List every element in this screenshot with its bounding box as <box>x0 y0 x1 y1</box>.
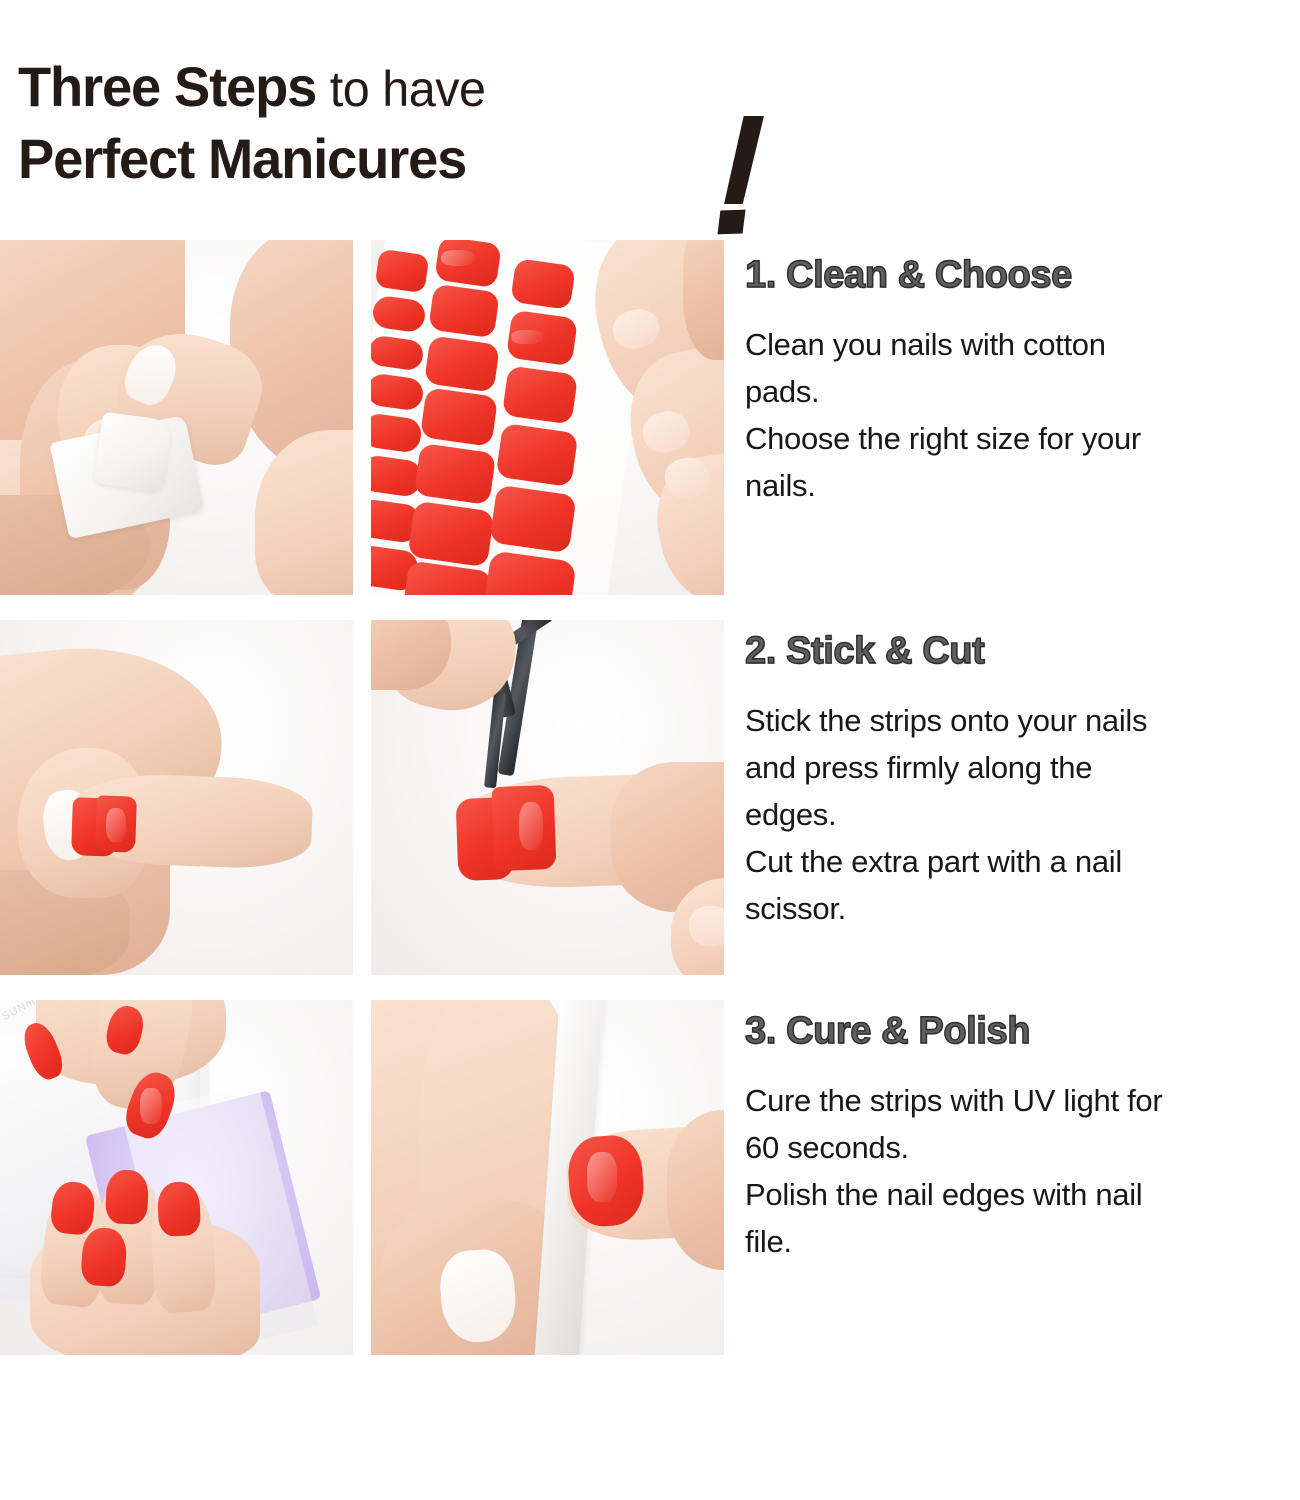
step-2-line-5: scissor. <box>745 885 1300 932</box>
step-2-body: Stick the strips onto your nails and pre… <box>745 697 1300 932</box>
step-3-line-3: Polish the nail edges with nail <box>745 1171 1300 1218</box>
step-1-line-1: Clean you nails with cotton <box>745 321 1300 368</box>
step-block-2: 2. Stick & Cut Stick the strips onto you… <box>745 630 1300 932</box>
photo-file-nail-edge <box>371 1000 724 1355</box>
title-strong-1: Three Steps <box>18 55 316 118</box>
step-1-heading: 1. Clean & Choose <box>745 254 1300 297</box>
photo-uv-lamp-curing: SUNmini <box>0 1000 353 1355</box>
title-light-1: to have <box>330 61 486 117</box>
step-3-line-1: Cure the strips with UV light for <box>745 1077 1300 1124</box>
step-1-line-4: nails. <box>745 462 1300 509</box>
step-3-line-4: file. <box>745 1218 1300 1265</box>
step-3-body: Cure the strips with UV light for 60 sec… <box>745 1077 1300 1265</box>
photo-cut-strip-with-scissor <box>371 620 724 975</box>
photo-nail-strip-sheet <box>371 240 724 595</box>
step-block-1: 1. Clean & Choose Clean you nails with c… <box>745 254 1300 509</box>
instruction-photo-grid: SUNmini <box>0 240 724 1355</box>
step-2-heading: 2. Stick & Cut <box>745 630 1300 673</box>
step-block-3: 3. Cure & Polish Cure the strips with UV… <box>745 1010 1300 1265</box>
step-2-line-4: Cut the extra part with a nail <box>745 838 1300 885</box>
step-2-line-3: edges. <box>745 791 1300 838</box>
title-line-1: Three Steps to have <box>18 52 687 124</box>
photo-clean-with-cotton-pad <box>0 240 353 595</box>
exclamation-mark-icon <box>715 116 785 241</box>
photo-row-step-3: SUNmini <box>0 1000 724 1355</box>
step-1-line-2: pads. <box>745 368 1300 415</box>
step-1-line-3: Choose the right size for your <box>745 415 1300 462</box>
step-3-line-2: 60 seconds. <box>745 1124 1300 1171</box>
photo-row-step-1 <box>0 240 724 595</box>
photo-row-step-2 <box>0 620 724 975</box>
page-header: Three Steps to have Perfect Manicures <box>18 52 778 202</box>
exclamation-stem <box>724 116 764 204</box>
step-2-line-1: Stick the strips onto your nails <box>745 697 1300 744</box>
exclamation-dot <box>717 210 745 235</box>
page-title: Three Steps to have Perfect Manicures <box>18 52 708 194</box>
title-line-2: Perfect Manicures <box>18 124 687 194</box>
title-strong-2: Perfect Manicures <box>18 127 466 190</box>
step-3-heading: 3. Cure & Polish <box>745 1010 1300 1053</box>
photo-stick-strip-on-nail <box>0 620 353 975</box>
step-1-body: Clean you nails with cotton pads. Choose… <box>745 321 1300 509</box>
step-2-line-2: and press firmly along the <box>745 744 1300 791</box>
